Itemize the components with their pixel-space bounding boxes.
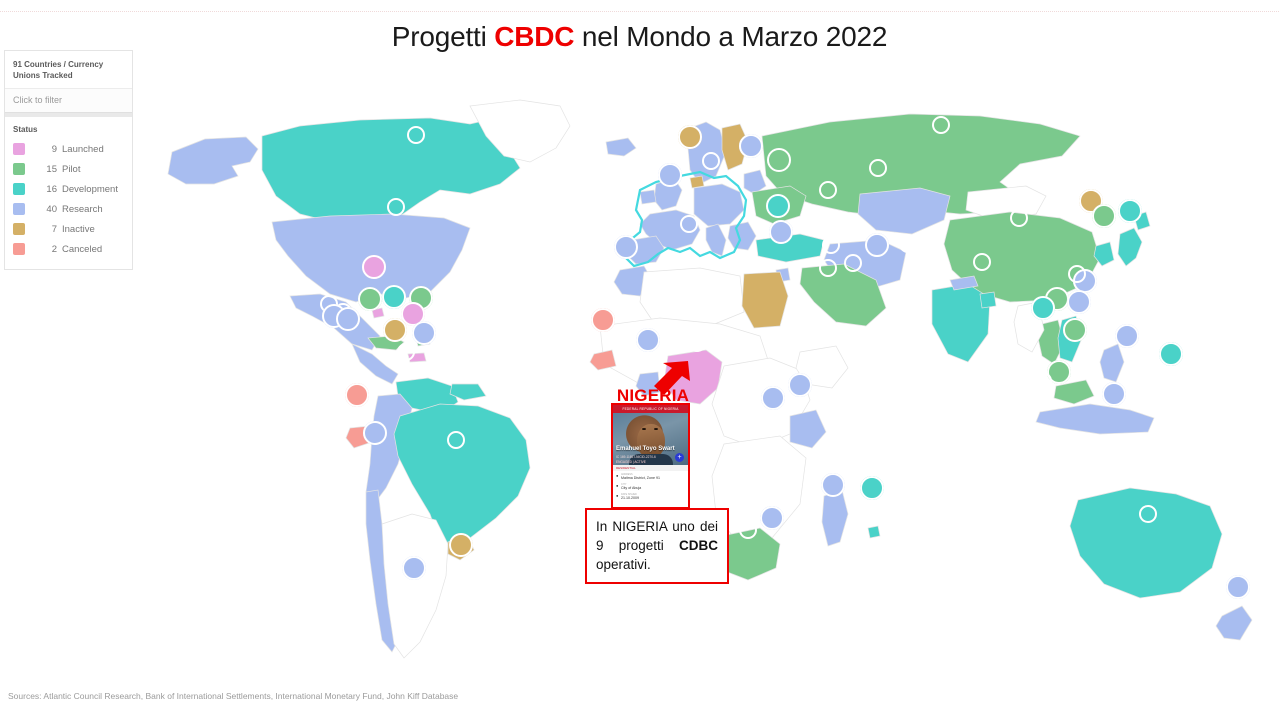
map-marker-pilot[interactable]	[767, 148, 791, 172]
marker-ring	[899, 235, 917, 253]
id-card-row-value: 21.10.2009	[621, 496, 685, 501]
marker-ring	[932, 116, 950, 134]
marker-ring	[661, 138, 679, 156]
legend-count: 40	[31, 204, 57, 215]
marker-ring	[769, 220, 793, 244]
map-marker-research[interactable]	[336, 307, 360, 331]
marker-ring	[678, 125, 702, 149]
country-germany-poland	[694, 184, 744, 226]
top-divider	[0, 11, 1279, 13]
marker-ring	[277, 263, 295, 281]
legend-swatch-pilot	[13, 163, 25, 175]
callout-bold: CDBC	[679, 538, 718, 553]
marker-ring	[636, 328, 660, 352]
country-alaska	[168, 137, 258, 184]
add-button[interactable]: +	[675, 453, 684, 462]
marker-ring	[614, 235, 638, 259]
marker-ring	[688, 334, 706, 352]
map-marker-none[interactable]	[688, 334, 706, 352]
legend-count: 15	[31, 164, 57, 175]
map-marker-research[interactable]	[614, 235, 638, 259]
legend-item-canceled[interactable]: 2Canceled	[13, 239, 124, 259]
marker-ring	[1159, 342, 1183, 366]
map-marker-development[interactable]	[1118, 199, 1142, 223]
legend-count: 9	[31, 144, 57, 155]
nigeria-id-screenshot: FEDERAL REPUBLIC OF NIGERIA Emahuel Toyo…	[611, 403, 690, 509]
map-marker-canceled[interactable]	[591, 308, 615, 332]
country-iceland	[606, 138, 636, 156]
marker-ring	[821, 473, 845, 497]
map-marker-research[interactable]	[821, 473, 845, 497]
marker-ring	[761, 386, 785, 410]
slide-canvas: Progetti CBDC nel Mondo a Marzo 2022 91 …	[0, 0, 1279, 707]
marker-ring	[449, 533, 473, 557]
country-madagascar	[822, 490, 848, 546]
map-marker-research[interactable]	[739, 134, 763, 158]
marker-ring	[739, 521, 757, 539]
legend-header: 91 Countries / Currency Unions Tracked	[5, 51, 132, 89]
marker-ring	[1068, 265, 1086, 283]
legend-filter-hint[interactable]: Click to filter	[5, 89, 132, 113]
id-card-row-text: DATE ISSUED21.10.2009	[621, 493, 685, 501]
legend-label: Pilot	[62, 164, 80, 175]
map-marker-development[interactable]	[1031, 296, 1055, 320]
marker-ring	[1034, 372, 1052, 390]
map-marker-none[interactable]	[819, 181, 837, 199]
marker-ring	[1092, 204, 1116, 228]
id-card-row: ●CITYCity of Abuja	[616, 483, 685, 491]
marker-ring	[1067, 290, 1091, 314]
marker-ring	[865, 233, 889, 257]
marker-ring	[1010, 209, 1028, 227]
id-card-status: ENGAGED | ACTIVE	[616, 460, 646, 464]
id-card-header: FEDERAL REPUBLIC OF NIGERIA	[613, 405, 688, 413]
marker-ring	[407, 126, 425, 144]
marker-ring	[869, 159, 887, 177]
map-marker-research[interactable]	[769, 220, 793, 244]
marker-ring	[691, 98, 709, 116]
id-card-row: ●DATE ISSUED21.10.2009	[616, 493, 685, 501]
map-marker-none[interactable]	[277, 263, 295, 281]
map-marker-research[interactable]	[402, 556, 426, 580]
legend-item-research[interactable]: 40Research	[13, 199, 124, 219]
marker-ring	[1139, 505, 1157, 523]
map-marker-none[interactable]	[447, 431, 465, 449]
photo-eye-right	[654, 428, 658, 430]
marker-ring	[973, 253, 991, 271]
id-card-row-text: CITYCity of Abuja	[621, 483, 685, 491]
marker-ring	[397, 343, 415, 361]
id-card-photo: Emahuel Toyo Swart IC 169-1165T-NICID-22…	[613, 413, 688, 465]
map-marker-research[interactable]	[1226, 575, 1250, 599]
marker-ring	[402, 556, 426, 580]
map-marker-none[interactable]	[739, 521, 757, 539]
legend-label: Inactive	[62, 224, 95, 235]
country-denmark	[690, 176, 704, 188]
map-marker-pilot[interactable]	[1092, 204, 1116, 228]
map-marker-research[interactable]	[760, 506, 784, 530]
photo-eye-left	[642, 428, 646, 430]
legend-panel[interactable]: 91 Countries / Currency Unions Tracked C…	[4, 50, 133, 270]
map-marker-none[interactable]	[1139, 505, 1157, 523]
legend-count: 16	[31, 184, 57, 195]
map-marker-none[interactable]	[1010, 209, 1028, 227]
map-marker-none[interactable]	[702, 152, 720, 170]
marker-ring	[702, 152, 720, 170]
id-card-name: Emahuel Toyo Swart	[616, 446, 685, 453]
map-marker-pilot[interactable]	[1063, 318, 1087, 342]
legend-count: 7	[31, 224, 57, 235]
callout-tail: operativi.	[596, 557, 651, 572]
legend-swatch-canceled	[13, 243, 25, 255]
map-marker-research[interactable]	[1102, 382, 1126, 406]
marker-ring	[860, 476, 884, 500]
marker-ring	[1115, 324, 1139, 348]
marker-ring	[447, 431, 465, 449]
marker-ring	[358, 287, 382, 311]
marker-ring	[717, 106, 735, 124]
marker-ring	[788, 373, 812, 397]
map-marker-development[interactable]	[382, 285, 406, 309]
callout-line-1: In NIGERIA uno	[596, 519, 695, 534]
country-balkans	[728, 222, 756, 250]
marker-ring	[767, 148, 791, 172]
map-marker-research[interactable]	[363, 421, 387, 445]
map-marker-launched[interactable]	[362, 255, 386, 279]
map-marker-none[interactable]	[387, 198, 405, 216]
map-marker-none[interactable]	[407, 126, 425, 144]
marker-ring	[1102, 382, 1126, 406]
marker-ring	[1226, 575, 1250, 599]
map-marker-research[interactable]	[761, 386, 785, 410]
country-egypt	[742, 272, 788, 328]
marker-ring	[412, 321, 436, 345]
map-marker-research[interactable]	[1067, 290, 1091, 314]
map-marker-none[interactable]	[1068, 265, 1086, 283]
marker-ring	[363, 421, 387, 445]
map-marker-development[interactable]	[860, 476, 884, 500]
legend-label: Launched	[62, 144, 104, 155]
map-marker-inactive[interactable]	[383, 318, 407, 342]
map-marker-inactive[interactable]	[449, 533, 473, 557]
country-kenya-tanzania	[790, 410, 826, 448]
marker-ring	[819, 259, 837, 277]
marker-ring	[345, 383, 369, 407]
marker-ring	[362, 255, 386, 279]
country-central-america	[352, 344, 398, 384]
id-card-row: ●ADDRESSMaitma District, Zone 91	[616, 473, 685, 481]
marker-ring	[591, 308, 615, 332]
marker-ring	[766, 194, 790, 218]
marker-ring	[822, 236, 840, 254]
map-marker-none[interactable]	[661, 138, 679, 156]
country-bangladesh	[980, 292, 996, 308]
map-marker-research[interactable]	[788, 373, 812, 397]
map-marker-none[interactable]	[869, 159, 887, 177]
map-marker-none[interactable]	[819, 259, 837, 277]
id-card-row-text: ADDRESSMaitma District, Zone 91	[621, 473, 685, 481]
map-marker-none[interactable]	[822, 236, 840, 254]
marker-ring	[1031, 296, 1055, 320]
country-italy	[706, 224, 726, 256]
map-marker-none[interactable]	[680, 215, 698, 233]
marker-ring	[680, 215, 698, 233]
legend-label: Research	[62, 204, 103, 215]
map-marker-development[interactable]	[766, 194, 790, 218]
legend-item-development[interactable]: 16Development	[13, 179, 124, 199]
legend-count: 2	[31, 244, 57, 255]
legend-label: Canceled	[62, 244, 102, 255]
legend-item-inactive[interactable]: 7Inactive	[13, 219, 124, 239]
map-marker-research[interactable]	[1115, 324, 1139, 348]
legend-swatch-launched	[13, 143, 25, 155]
map-marker-none[interactable]	[844, 254, 862, 272]
marker-ring	[600, 96, 618, 114]
map-marker-research[interactable]	[865, 233, 889, 257]
map-marker-none[interactable]	[932, 116, 950, 134]
map-marker-none[interactable]	[717, 106, 735, 124]
map-marker-canceled[interactable]	[345, 383, 369, 407]
sources-note: Sources: Atlantic Council Research, Bank…	[8, 691, 458, 701]
map-marker-research[interactable]	[658, 163, 682, 187]
marker-ring	[387, 198, 405, 216]
legend-swatch-inactive	[13, 223, 25, 235]
map-marker-none[interactable]	[691, 98, 709, 116]
map-marker-none[interactable]	[1034, 372, 1052, 390]
map-marker-pilot[interactable]	[358, 287, 382, 311]
marker-ring	[1118, 199, 1142, 223]
map-marker-inactive[interactable]	[678, 125, 702, 149]
id-card-row-value: City of Abuja	[621, 486, 685, 491]
id-card-row-value: Maitma District, Zone 91	[621, 476, 685, 481]
legend-item-launched[interactable]: 9Launched	[13, 139, 124, 159]
legend-swatch-research	[13, 203, 25, 215]
legend-status-list: Status 9Launched15Pilot16Development40Re…	[5, 117, 132, 269]
marker-ring	[739, 134, 763, 158]
country-mauritius	[868, 526, 880, 538]
marker-ring	[819, 181, 837, 199]
country-indonesia	[1036, 404, 1154, 434]
country-new-zealand	[1216, 606, 1252, 640]
country-japan	[1118, 228, 1142, 266]
map-marker-none[interactable]	[397, 343, 415, 361]
map-marker-research[interactable]	[636, 328, 660, 352]
marker-ring	[1063, 318, 1087, 342]
map-marker-none[interactable]	[973, 253, 991, 271]
id-card-number: IC 169-1165T-NICID-2270-6	[616, 455, 656, 459]
map-marker-none[interactable]	[899, 235, 917, 253]
map-marker-research[interactable]	[412, 321, 436, 345]
country-kazakhstan	[858, 188, 950, 234]
map-marker-none[interactable]	[600, 96, 618, 114]
marker-ring	[760, 506, 784, 530]
legend-swatch-development	[13, 183, 25, 195]
marker-ring	[382, 285, 406, 309]
marker-ring	[336, 307, 360, 331]
country-ireland	[640, 190, 656, 204]
id-card-detail-list: ●ADDRESSMaitma District, Zone 91●CITYCit…	[613, 471, 688, 505]
legend-item-pilot[interactable]: 15Pilot	[13, 159, 124, 179]
country-philippines	[1100, 344, 1124, 382]
marker-ring	[844, 254, 862, 272]
nigeria-callout-box: In NIGERIA uno dei 9 progetti CDBC opera…	[585, 508, 729, 584]
map-marker-development[interactable]	[1159, 342, 1183, 366]
legend-section-title: Status	[13, 125, 124, 134]
marker-ring	[383, 318, 407, 342]
marker-ring	[658, 163, 682, 187]
legend-label: Development	[62, 184, 118, 195]
country-senegal	[590, 350, 616, 370]
